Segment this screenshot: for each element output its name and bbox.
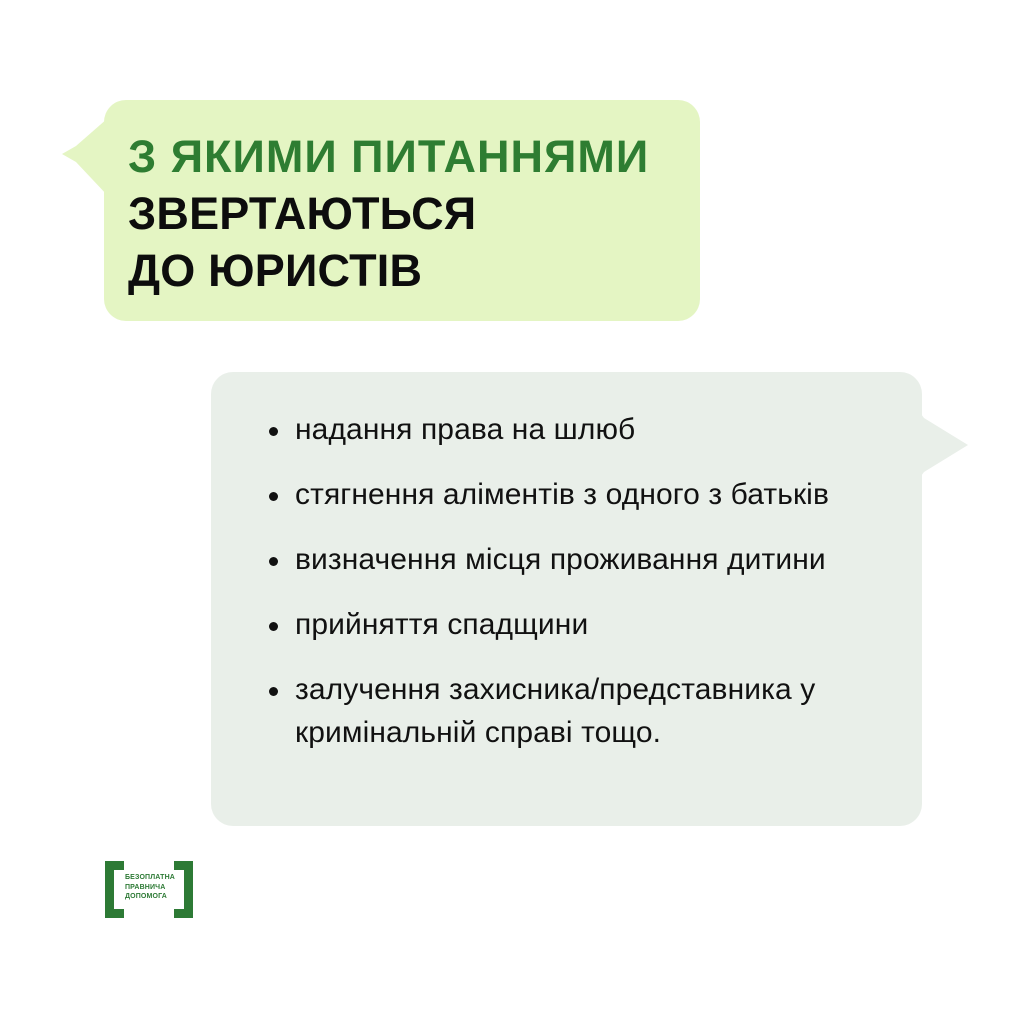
list-bubble-tail-icon (918, 410, 966, 472)
topics-list: надання права на шлюб стягнення аліменті… (259, 408, 892, 754)
logo-text-line-2: ПРАВНИЧА (125, 883, 177, 893)
list-item-label: прийняття спадщини (295, 608, 588, 641)
bullet-dot-icon (269, 557, 278, 566)
list-bubble: надання права на шлюб стягнення аліменті… (211, 372, 922, 826)
logo: БЕЗОПЛАТНА ПРАВНИЧА ДОПОМОГА (105, 861, 193, 918)
logo-text-line-3: ДОПОМОГА (125, 892, 177, 902)
list-item: визначення місця проживання дитини (259, 538, 892, 581)
logo-text: БЕЗОПЛАТНА ПРАВНИЧА ДОПОМОГА (125, 873, 177, 902)
infographic-canvas: З ЯКИМИ ПИТАННЯМИ ЗВЕРТАЮТЬСЯ ДО ЮРИСТІВ… (0, 0, 1024, 1024)
heading-bubble: З ЯКИМИ ПИТАННЯМИ ЗВЕРТАЮТЬСЯ ДО ЮРИСТІВ (104, 100, 700, 321)
list-item: надання права на шлюб (259, 408, 892, 451)
heading-bubble-tail-icon (62, 118, 106, 192)
list-item-label: залучення захисника/представника у кримі… (295, 673, 815, 749)
list-item-label: визначення місця проживання дитини (295, 543, 826, 576)
logo-text-line-1: БЕЗОПЛАТНА (125, 873, 177, 883)
list-item: прийняття спадщини (259, 603, 892, 646)
bullet-dot-icon (269, 492, 278, 501)
list-item: стягнення аліментів з одного з батьків (259, 473, 892, 516)
bullet-dot-icon (269, 622, 278, 631)
logo-left-bracket-notch (114, 870, 124, 909)
heading-line-1: З ЯКИМИ ПИТАННЯМИ (128, 128, 674, 185)
list-item-label: стягнення аліментів з одного з батьків (295, 478, 829, 511)
list-item: залучення захисника/представника у кримі… (259, 668, 892, 754)
heading-line-2: ЗВЕРТАЮТЬСЯ (128, 185, 674, 242)
bullet-dot-icon (269, 427, 278, 436)
list-item-label: надання права на шлюб (295, 413, 635, 446)
bullet-dot-icon (269, 687, 278, 696)
logo-left-bracket-icon (105, 861, 124, 918)
heading-line-3: ДО ЮРИСТІВ (128, 242, 674, 299)
